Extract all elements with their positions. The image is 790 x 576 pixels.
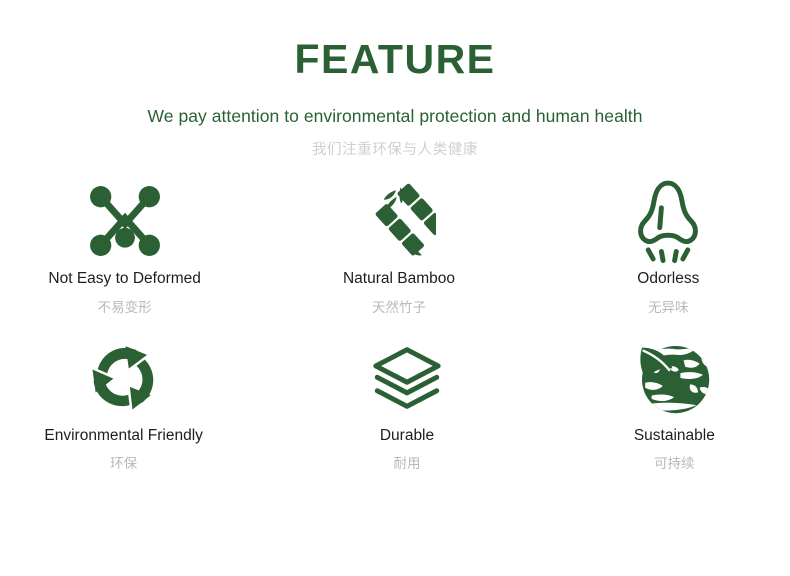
- feature-label-chinese: 可持续: [654, 456, 695, 472]
- feature-row: Not Easy to Deformed 不易变形: [0, 178, 790, 316]
- globe-leaf-icon: [634, 338, 714, 418]
- bamboo-icon: [362, 183, 436, 259]
- icon-container: [635, 178, 701, 264]
- feature-label-chinese: 耐用: [393, 456, 420, 472]
- feature-label-chinese: 天然竹子: [372, 300, 426, 316]
- feature-section: FEATURE We pay attention to environmenta…: [0, 0, 790, 576]
- feature-label-chinese: 无异味: [648, 300, 689, 316]
- nose-icon: [635, 178, 701, 264]
- section-subtitle: We pay attention to environmental protec…: [0, 106, 790, 127]
- icon-container: [84, 335, 164, 421]
- feature-item-not-easy-to-deformed: Not Easy to Deformed 不易变形: [0, 178, 256, 316]
- feature-label: Not Easy to Deformed: [48, 270, 200, 289]
- feature-label: Environmental Friendly: [44, 427, 203, 446]
- icon-container: [362, 178, 436, 264]
- feature-label: Natural Bamboo: [343, 270, 455, 289]
- section-subtitle-chinese: 我们注重环保与人类健康: [0, 138, 790, 159]
- icon-container: [634, 335, 714, 421]
- page-title: FEATURE: [0, 38, 790, 81]
- feature-label-chinese: 环保: [110, 456, 137, 472]
- feature-item-durable: Durable 耐用: [275, 335, 538, 473]
- feature-label-chinese: 不易变形: [98, 300, 152, 316]
- feature-label: Sustainable: [634, 427, 715, 446]
- feature-item-environmental-friendly: Environmental Friendly 环保: [0, 335, 255, 473]
- section-header: FEATURE We pay attention to environmenta…: [0, 0, 790, 159]
- feature-row: Environmental Friendly 环保 Durable 耐用: [0, 335, 790, 473]
- feature-label: Durable: [380, 427, 434, 446]
- feature-item-sustainable: Sustainable 可持续: [543, 335, 790, 473]
- icon-container: [370, 335, 444, 421]
- feature-item-natural-bamboo: Natural Bamboo 天然竹子: [267, 178, 530, 316]
- feature-grid: Not Easy to Deformed 不易变形: [0, 178, 790, 473]
- feature-item-odorless: Odorless 无异味: [537, 178, 790, 316]
- molecule-network-icon: [87, 183, 163, 259]
- recycle-icon: [84, 339, 164, 417]
- icon-container: [87, 178, 163, 264]
- feature-label: Odorless: [637, 270, 699, 289]
- layers-stack-icon: [370, 344, 444, 412]
